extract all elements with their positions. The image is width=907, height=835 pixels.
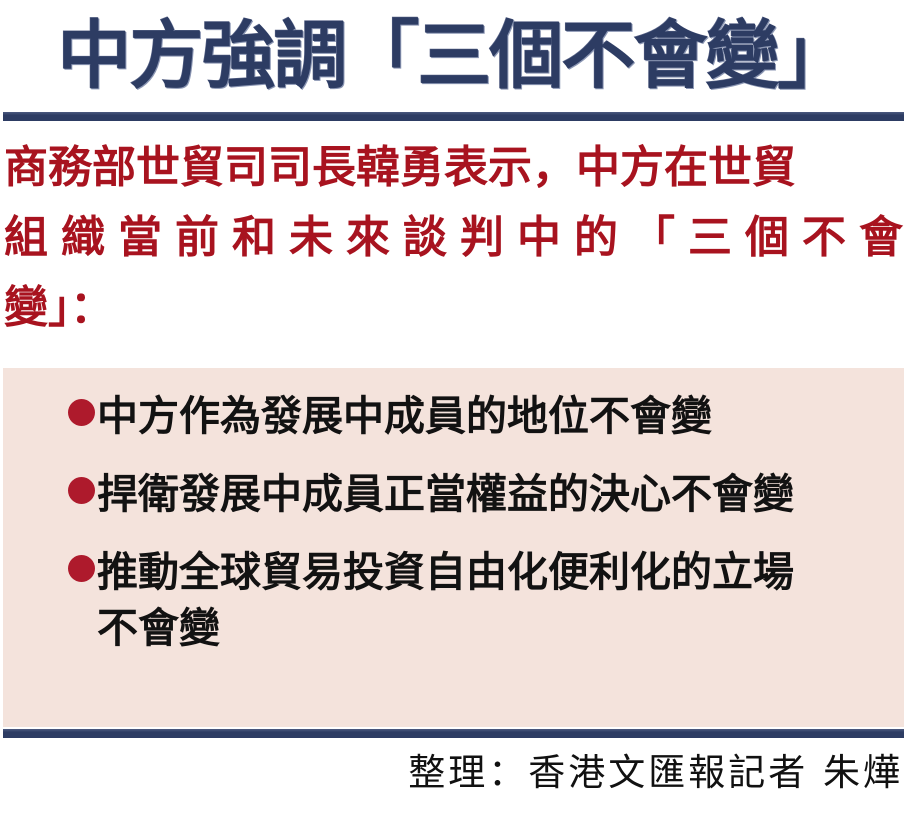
list-item: 中方作為發展中成員的地位不會變	[68, 388, 888, 444]
bullet-dot-icon	[68, 555, 95, 582]
intro-line-2-char: 談	[403, 203, 447, 273]
credit-line: 整理：香港文匯報記者 朱燁	[0, 748, 903, 798]
intro-line-2-char: 的	[574, 203, 618, 273]
list-item-text: 推動全球貿易投資自由化便利化的立場 不會變	[97, 544, 794, 656]
intro-line-1: 商務部世貿司司長韓勇表示，中方在世貿	[4, 133, 903, 203]
intro-line-2-char: 個	[745, 203, 789, 273]
list-item-text: 中方作為發展中成員的地位不會變	[97, 388, 712, 444]
intro-line-2-char: 「	[631, 203, 675, 273]
page-title-text: 中方強調「三個不會變」	[58, 13, 850, 99]
intro-line-2-char: 判	[460, 203, 504, 273]
list-item-line: 推動全球貿易投資自由化便利化的立場	[97, 544, 794, 600]
highlight-panel: 中方作為發展中成員的地位不會變 捍衛發展中成員正當權益的決心不會變 推動全球貿易…	[3, 368, 904, 727]
intro-line-2-char: 當	[118, 203, 162, 273]
page-title: 中方強調「三個不會變」	[0, 8, 907, 104]
list-item-line: 中方作為發展中成員的地位不會變	[97, 388, 712, 444]
intro-line-2-char: 織	[61, 203, 105, 273]
intro-line-2-char: 前	[175, 203, 219, 273]
intro-line-2: 組 織 當 前 和 未 來 談 判 中 的 「 三 個 不 會	[4, 203, 903, 273]
intro-line-2-char: 中	[517, 203, 561, 273]
intro-line-2-char: 組	[4, 203, 48, 273]
intro-line-2-char: 三	[688, 203, 732, 273]
list-item: 推動全球貿易投資自由化便利化的立場 不會變	[68, 544, 888, 656]
list-item-text: 捍衛發展中成員正當權益的決心不會變	[97, 466, 794, 522]
intro-paragraph: 商務部世貿司司長韓勇表示，中方在世貿 組 織 當 前 和 未 來 談 判 中 的…	[4, 133, 903, 343]
bullet-dot-icon	[68, 399, 95, 426]
intro-line-2-char: 不	[802, 203, 846, 273]
intro-line-3: 變」：	[4, 273, 903, 343]
list-item: 捍衛發展中成員正當權益的決心不會變	[68, 466, 888, 522]
divider-top	[3, 112, 904, 121]
bullet-list: 中方作為發展中成員的地位不會變 捍衛發展中成員正當權益的決心不會變 推動全球貿易…	[68, 388, 888, 656]
bullet-dot-icon	[68, 477, 95, 504]
intro-line-2-char: 未	[289, 203, 333, 273]
list-item-line: 捍衛發展中成員正當權益的決心不會變	[97, 466, 794, 522]
infographic-root: 中方強調「三個不會變」 商務部世貿司司長韓勇表示，中方在世貿 組 織 當 前 和…	[0, 0, 907, 835]
intro-line-2-char: 會	[859, 203, 903, 273]
intro-line-2-char: 和	[232, 203, 276, 273]
divider-bottom	[3, 729, 904, 738]
list-item-line: 不會變	[97, 600, 794, 656]
intro-line-2-char: 來	[346, 203, 390, 273]
